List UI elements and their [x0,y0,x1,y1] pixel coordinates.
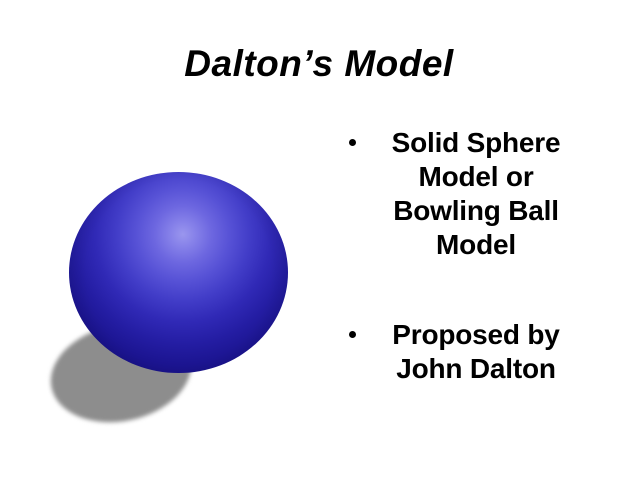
list-item: Proposed by John Dalton [344,318,590,386]
bullet-item-label: Solid Sphere Model or Bowling Ball Model [362,126,590,262]
sphere-illustration [0,0,330,479]
bullet-dot-icon [349,331,356,338]
presentation-slide: Dalton’s Model Solid Sphere Model or Bow… [0,0,638,479]
bullet-list: Solid Sphere Model or Bowling Ball Model… [344,126,590,386]
list-item: Solid Sphere Model or Bowling Ball Model [344,126,590,262]
blue-sphere-icon [69,172,288,373]
bullet-dot-icon [349,139,356,146]
bullet-item-label: Proposed by John Dalton [362,318,590,386]
